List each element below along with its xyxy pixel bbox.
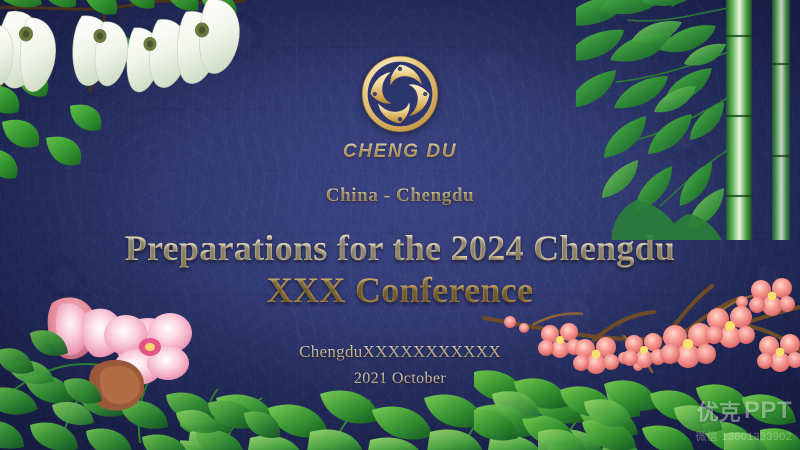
brand-logo-text: CHENG DU <box>343 141 457 163</box>
watermark: 优克 PPT 微信 13601333902 <box>695 395 792 444</box>
watermark-contact: 微信 13601333902 <box>695 428 792 444</box>
title-line-1: Preparations for the 2024 Chengdu <box>125 227 676 269</box>
page-title: Preparations for the 2024 Chengdu XXX Co… <box>125 227 676 312</box>
watermark-ppt-text: PPT <box>744 397 792 425</box>
brand-logo: CHENG DU <box>343 52 457 163</box>
slide-content: CHENG DU China - Chengdu Preparations fo… <box>0 0 800 450</box>
presentation-title-slide: CHENG DU China - Chengdu Preparations fo… <box>0 0 800 450</box>
chengdu-sun-bird-emblem-icon <box>358 52 442 136</box>
watermark-brand: 优克 PPT <box>697 395 792 427</box>
organization-name: ChengduXXXXXXXXXXX <box>299 342 501 362</box>
title-line-2: XXX Conference <box>125 269 676 311</box>
slide-kicker: China - Chengdu <box>326 185 474 207</box>
watermark-logo-text: 优克 <box>697 395 741 427</box>
presentation-date: 2021 October <box>354 370 446 388</box>
